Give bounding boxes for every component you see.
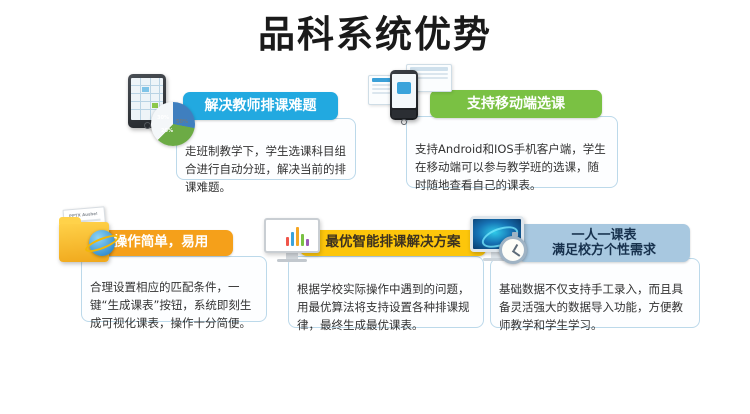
imac-icon	[264, 218, 320, 262]
pie-label-1: 30%	[157, 115, 169, 121]
imac-bar-chart-icon	[262, 214, 324, 270]
feature-card-1-heading[interactable]: 解决教师排课难题	[183, 92, 338, 120]
feature-card-5-heading-line2: 满足校方个性需求	[552, 243, 656, 258]
folder-globe-icon: PPTX Aushe!	[55, 206, 125, 268]
feature-card-1-body-text: 走班制教学下，学生选课科目组合进行自动分班，解决当前的排课难题。	[185, 143, 347, 196]
pie-chart-icon: 30% 20% 50%	[151, 102, 195, 146]
feature-card-1-body: 走班制教学下，学生选课科目组合进行自动分班，解决当前的排课难题。	[176, 118, 356, 180]
feature-card-2-heading-text: 支持移动端选课	[467, 96, 565, 113]
feature-card-4-heading-text: 最优智能排课解决方案	[326, 235, 461, 251]
smartphone-browser-icon	[368, 62, 458, 142]
feature-card-4-body-text: 根据学校实际操作中遇到的问题，用最优算法将支持设置各种排课规律，最终生成最优课表…	[297, 281, 475, 334]
stopwatch-icon	[499, 236, 527, 264]
browser-globe-icon	[89, 230, 115, 256]
slide-canvas: 品科系统优势 30% 20% 5	[0, 0, 750, 414]
feature-card-2-body-text: 支持Android和IOS手机客户端，学生在移动端可以参与教学班的选课，随时随地…	[415, 141, 609, 194]
tablet-home-button	[144, 122, 151, 129]
imac-screen	[264, 218, 320, 253]
feature-card-4-heading[interactable]: 最优智能排课解决方案	[300, 230, 486, 256]
page-title: 品科系统优势	[0, 4, 750, 58]
monitor-clock-icon	[468, 214, 530, 270]
phone-screen	[392, 74, 416, 108]
tablet-pie-chart-icon: 30% 20% 50%	[128, 74, 198, 150]
cursor-icon	[397, 82, 411, 94]
feature-card-5-heading-line1: 一人一课表	[571, 228, 636, 243]
feature-card-1-heading-text: 解决教师排课难题	[205, 98, 317, 115]
feature-card-5-body-text: 基础数据不仅支持手工录入，而且具备灵活强大的数据导入功能，方便教师教学和学生学习…	[499, 281, 691, 334]
feature-card-5-heading[interactable]: 一人一课表 满足校方个性需求	[518, 224, 690, 262]
feature-card-3-heading-text: 操作简单，易用	[114, 235, 209, 251]
phone-home-button	[401, 119, 407, 125]
feature-card-3-body-text: 合理设置相应的匹配条件，一键“生成课表”按钮，系统即刻生成可视化课表，操作十分简…	[90, 279, 258, 332]
phone-keypad	[392, 110, 416, 118]
pie-label-2: 20%	[161, 128, 173, 134]
pie-label-3: 50%	[176, 119, 188, 125]
smartphone-icon	[390, 70, 418, 120]
bar-chart-icon	[286, 227, 309, 246]
